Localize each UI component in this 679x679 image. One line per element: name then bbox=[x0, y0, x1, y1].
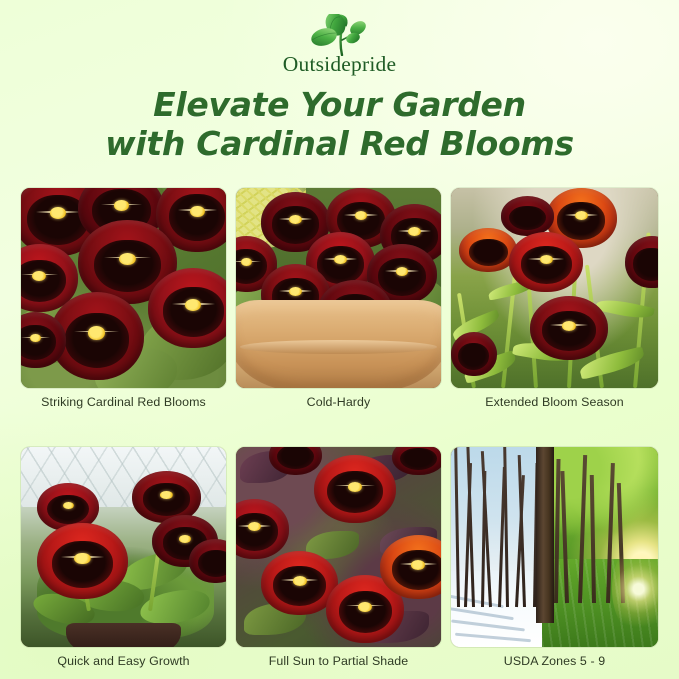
page-title: Elevate Your Garden with Cardinal Red Bl… bbox=[0, 86, 679, 163]
photo-quick-and-easy-growth bbox=[21, 447, 226, 647]
gallery-tile-6: USDA Zones 5 - 9 bbox=[451, 447, 658, 668]
headline-line-2: with Cardinal Red Blooms bbox=[0, 125, 679, 164]
brand-wordmark: Outsidepride bbox=[0, 54, 679, 76]
gallery-tile-1: Striking Cardinal Red Blooms bbox=[21, 188, 226, 409]
photo-full-sun-to-partial-shade bbox=[236, 447, 441, 647]
headline-line-1: Elevate Your Garden bbox=[0, 86, 679, 125]
tile-caption: Cold-Hardy bbox=[236, 395, 441, 409]
gallery-tile-3: Extended Bloom Season bbox=[451, 188, 658, 409]
gallery-tile-2: Cold-Hardy bbox=[236, 188, 441, 409]
photo-usda-zones bbox=[451, 447, 658, 647]
feature-gallery: Striking Cardinal Red Blooms bbox=[21, 188, 658, 668]
tile-caption: Full Sun to Partial Shade bbox=[236, 654, 441, 668]
photo-extended-bloom-season bbox=[451, 188, 658, 388]
seedling-leaves-icon bbox=[280, 14, 400, 56]
tile-caption: Striking Cardinal Red Blooms bbox=[21, 395, 226, 409]
gallery-tile-5: Full Sun to Partial Shade bbox=[236, 447, 441, 668]
photo-striking-cardinal-red-blooms bbox=[21, 188, 226, 388]
gallery-tile-4: Quick and Easy Growth bbox=[21, 447, 226, 668]
tile-caption: Extended Bloom Season bbox=[451, 395, 658, 409]
tile-caption: USDA Zones 5 - 9 bbox=[451, 654, 658, 668]
photo-cold-hardy bbox=[236, 188, 441, 388]
brand-logo: Outsidepride bbox=[0, 14, 679, 76]
infographic-page: Outsidepride Elevate Your Garden with Ca… bbox=[0, 0, 679, 679]
tile-caption: Quick and Easy Growth bbox=[21, 654, 226, 668]
